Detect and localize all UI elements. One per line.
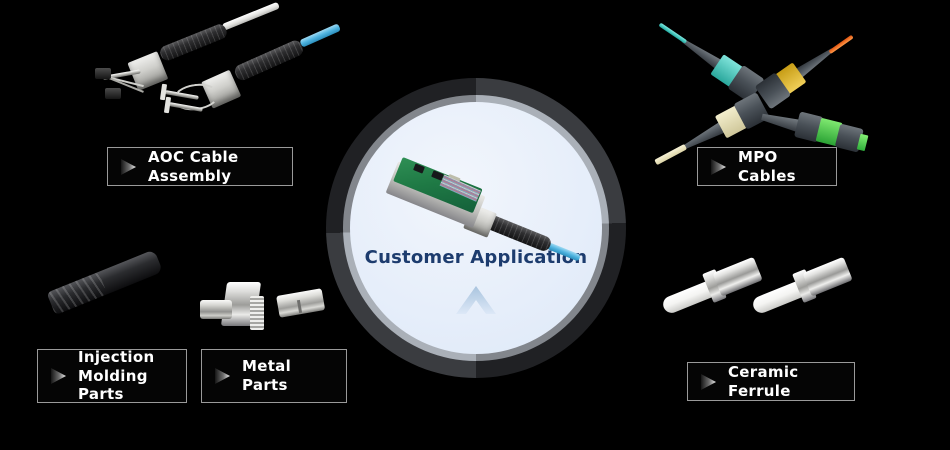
ferrule-2-barrel <box>803 257 853 297</box>
metal-part-t-flange <box>250 296 264 330</box>
metal-part-t-barrel <box>200 300 232 319</box>
chip-mpo-cables[interactable]: MPO Cables <box>697 147 837 186</box>
product-image-mpo-cables <box>670 16 860 138</box>
play-triangle-icon <box>118 156 140 178</box>
aoc-2-blue-cable <box>299 23 341 47</box>
aoc-1-connector-tab-b <box>105 88 121 99</box>
chip-label: MPO Cables <box>738 148 822 186</box>
chip-aoc-cable-assembly[interactable]: AOC Cable Assembly <box>107 147 293 186</box>
play-triangle-icon <box>698 371 720 393</box>
product-image-injection-molding-parts <box>45 272 175 338</box>
chip-injection-molding-parts[interactable]: Injection Molding Parts <box>37 349 187 403</box>
aoc-2-boot <box>233 38 305 82</box>
aoc-1-connector-tab-a <box>95 68 111 79</box>
play-triangle-icon <box>48 365 70 387</box>
center-blue-cable <box>547 242 581 261</box>
mpo-2-fiber <box>828 35 853 54</box>
ceramic-ferrule-2 <box>746 250 858 328</box>
mpo-1-fiber <box>658 23 687 44</box>
product-image-metal-parts <box>198 278 328 340</box>
chip-label: Ceramic Ferrule <box>728 363 840 401</box>
chevron-up-icon <box>454 284 498 316</box>
play-triangle-icon <box>212 365 234 387</box>
product-image-ceramic-ferrule <box>660 275 860 355</box>
aoc-2-clip-b <box>164 97 171 114</box>
mpo-3-fiber <box>654 144 687 165</box>
circle-inner-face: Customer Application <box>350 102 602 354</box>
molded-boot-ribs <box>47 272 108 315</box>
aoc-1-cable-jacket <box>222 2 280 31</box>
diagram-canvas: Customer Application <box>0 0 950 450</box>
play-triangle-icon <box>708 156 730 178</box>
aoc-1-boot <box>158 22 229 62</box>
chip-metal-parts[interactable]: Metal Parts <box>201 349 347 403</box>
customer-application-circle[interactable]: Customer Application <box>326 78 626 378</box>
product-image-aoc-cable-assembly <box>95 18 340 133</box>
metal-part-sleeve <box>276 288 325 318</box>
chip-label: Injection Molding Parts <box>78 348 172 404</box>
chip-ceramic-ferrule[interactable]: Ceramic Ferrule <box>687 362 855 401</box>
product-image-customer-application <box>390 150 580 260</box>
chip-label: AOC Cable Assembly <box>148 148 278 186</box>
chip-label: Metal Parts <box>242 357 332 395</box>
